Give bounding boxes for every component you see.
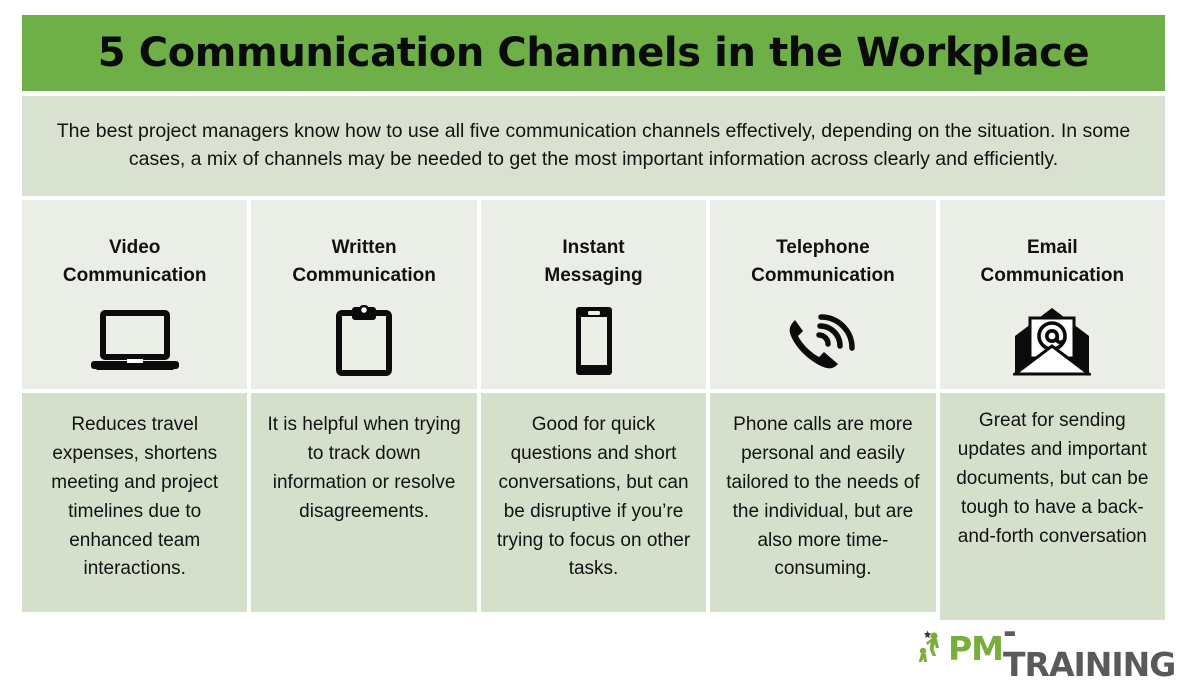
channel-column-telephone: Telephone Communication Ph: [710, 200, 935, 612]
channel-description: Phone calls are more personal and easily…: [718, 411, 927, 584]
page-title: 5 Communication Channels in the Workplac…: [98, 33, 1089, 73]
infographic-root: 5 Communication Channels in the Workplac…: [0, 0, 1200, 675]
channel-body-written: It is helpful when trying to track down …: [251, 393, 476, 612]
channel-column-instant-messaging: Instant Messaging Good for quick questio…: [481, 200, 706, 612]
pm-training-logo: PM -TRAINING: [916, 627, 1166, 669]
channel-body-instant-messaging: Good for quick questions and short conve…: [481, 393, 706, 612]
channel-description: Great for sending updates and important …: [948, 407, 1157, 551]
intro-paragraph: The best project managers know how to us…: [41, 118, 1147, 173]
channel-column-written: Written Communication It is helpful when…: [251, 200, 476, 612]
channel-title: Telephone Communication: [751, 234, 895, 290]
smartphone-icon: [572, 304, 616, 378]
channel-body-video: Reduces travel expenses, shortens meetin…: [22, 393, 247, 612]
channel-title: Email Communication: [981, 234, 1125, 290]
channel-header-telephone: Telephone Communication: [710, 200, 935, 389]
intro-band: The best project managers know how to us…: [22, 96, 1165, 196]
channel-header-email: Email Communication: [940, 200, 1165, 389]
running-person-icon: [916, 629, 946, 668]
channel-column-email: Email Communication Great f: [940, 200, 1165, 612]
channels-grid: Video Communication Reduces travel expen…: [22, 200, 1165, 612]
channel-body-telephone: Phone calls are more personal and easily…: [710, 393, 935, 612]
logo-text-pm: PM: [948, 632, 1003, 665]
logo-text-training: -TRAINING: [1003, 615, 1175, 681]
title-banner: 5 Communication Channels in the Workplac…: [22, 15, 1165, 91]
channel-description: It is helpful when trying to track down …: [259, 411, 468, 527]
channel-title: Video Communication: [63, 234, 207, 290]
channel-description: Reduces travel expenses, shortens meetin…: [30, 411, 239, 584]
laptop-icon: [89, 304, 181, 378]
clipboard-icon: [335, 304, 393, 378]
channel-header-written: Written Communication: [251, 200, 476, 389]
channel-description: Good for quick questions and short conve…: [489, 411, 698, 584]
ringing-phone-icon: [783, 304, 863, 378]
channel-title: Written Communication: [292, 234, 436, 290]
envelope-at-icon: [1013, 304, 1091, 378]
channel-body-email: Great for sending updates and important …: [940, 393, 1165, 620]
channel-title: Instant Messaging: [544, 234, 642, 290]
channel-header-instant-messaging: Instant Messaging: [481, 200, 706, 389]
channel-column-video: Video Communication Reduces travel expen…: [22, 200, 247, 612]
channel-header-video: Video Communication: [22, 200, 247, 389]
